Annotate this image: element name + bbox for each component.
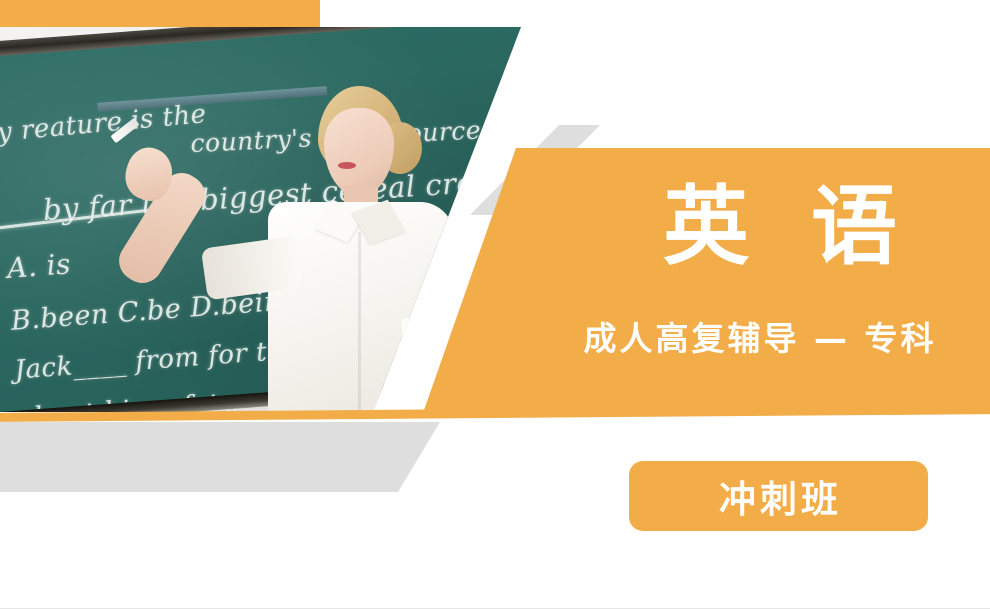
teacher-lips [338, 162, 356, 169]
teacher-badge [402, 318, 426, 362]
course-banner: y reature is the country's chief source … [0, 0, 990, 609]
teacher-shirt [268, 202, 454, 412]
badge-dot-green [406, 324, 415, 333]
teacher-face [324, 108, 394, 196]
badge-dot-red [405, 348, 413, 356]
teacher-shirt-placket [358, 232, 361, 412]
page-title: 英 语 [600, 182, 960, 272]
gray-footer-band [0, 422, 440, 492]
badge-dot-blue [416, 338, 424, 346]
page-subtitle: 成人高复辅导 — 专科 [560, 312, 960, 360]
cta-button[interactable]: 冲刺班 [629, 461, 928, 531]
chalk-line-4: A. is [6, 247, 72, 285]
top-accent-bar [0, 0, 320, 27]
